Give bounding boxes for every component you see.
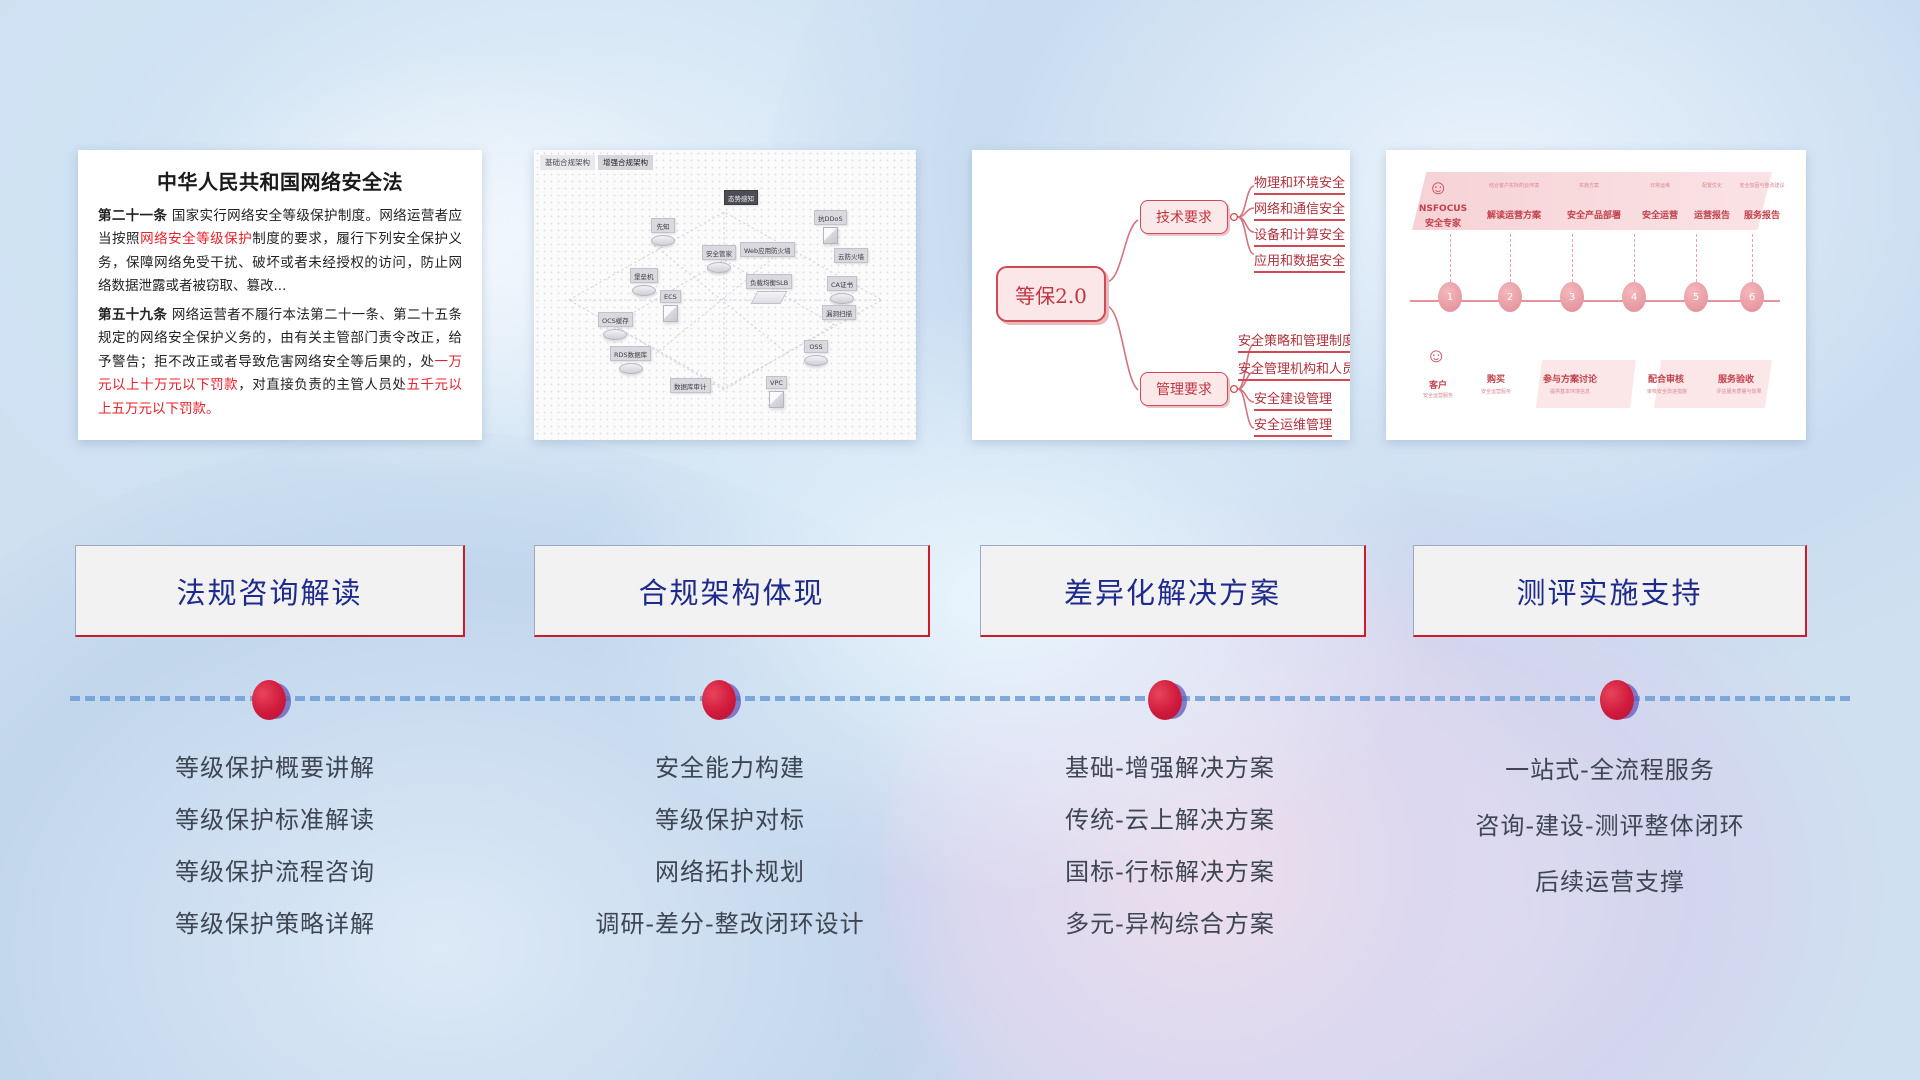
bottom-item-4-label: 服务验收 <box>1708 372 1764 385</box>
law-title: 中华人民共和国网络安全法 <box>98 166 462 195</box>
expert-person-icon: ☺ <box>1428 178 1448 198</box>
flow-step-dot-4: 4 <box>1622 282 1646 312</box>
list-item: 国标-行标解决方案 <box>960 846 1380 898</box>
timeline-dot-1[interactable] <box>252 680 286 720</box>
architecture-tab-enhanced[interactable]: 增强合规架构 <box>598 155 653 170</box>
arch-node-security-butler: 安全管家 <box>702 245 736 273</box>
flow-connector-6 <box>1752 234 1753 282</box>
step-1-sub: 结合客户实际的云环境 <box>1478 182 1550 189</box>
mindmap-leaf-operations: 安全运维管理 <box>1254 414 1332 437</box>
brand-sublabel: 安全专家 <box>1414 216 1472 229</box>
bottom-item-3-sub: 审核安全改进措施 <box>1628 388 1706 395</box>
arch-node-bastion-host: 堡垒机 <box>630 268 658 296</box>
list-item: 多元-异构综合方案 <box>960 898 1380 950</box>
step-5-sub: 安全加固与整改建议 <box>1734 182 1790 189</box>
flow-step-dot-1: 1 <box>1438 282 1462 312</box>
step-2-label: 安全产品部署 <box>1556 208 1632 221</box>
detail-list-column-4: 一站式-全流程服务 咨询-建设-测评整体闭环 后续运营支撑 <box>1400 742 1820 910</box>
arch-node-waf: Web应用防火墙 <box>740 242 795 257</box>
bottom-item-3-label: 配合审核 <box>1638 372 1694 385</box>
flow-step-dot-5: 5 <box>1684 282 1708 312</box>
mindmap-leaf-device-compute: 设备和计算安全 <box>1254 224 1345 247</box>
timeline-dashed-line <box>70 696 1850 701</box>
preview-cards-row: 中华人民共和国网络安全法 第二十一条 国家实行网络安全等级保护制度。网络运营者应… <box>0 150 1920 445</box>
arch-node-ocs-cache: OCS缓存 <box>598 312 633 340</box>
arch-node-db-audit: 数据库审计 <box>670 378 711 393</box>
arch-node-rds: RDS数据库 <box>610 346 651 374</box>
list-item: 一站式-全流程服务 <box>1400 742 1820 798</box>
article-59-label: 第五十九条 <box>98 307 167 323</box>
step-3-sub: 日常运维 <box>1634 182 1686 189</box>
step-4-label: 运营报告 <box>1686 208 1738 221</box>
law-article-21: 第二十一条 国家实行网络安全等级保护制度。网络运营者应当按照网络安全等级保护制度… <box>98 205 462 299</box>
flow-connector-1 <box>1450 234 1451 282</box>
bottom-item-1-sub: 安全运营服务 <box>1466 388 1526 395</box>
architecture-tab-basic[interactable]: 基础合规架构 <box>540 155 595 170</box>
list-item: 传统-云上解决方案 <box>960 794 1380 846</box>
detail-lists-row: 等级保护概要讲解 等级保护标准解读 等级保护流程咨询 等级保护策略详解 安全能力… <box>0 742 1920 982</box>
customer-person-icon: ☺ <box>1426 346 1446 366</box>
headline-box-evaluation-support[interactable]: 测评实施支持 <box>1413 545 1807 637</box>
detail-list-column-1: 等级保护概要讲解 等级保护标准解读 等级保护流程咨询 等级保护策略详解 <box>70 742 480 950</box>
flow-step-dot-2: 2 <box>1498 282 1522 312</box>
architecture-tabs[interactable]: 基础合规架构 增强合规架构 <box>540 155 653 170</box>
mindmap-leaf-policy-system: 安全策略和管理制度 <box>1238 330 1350 353</box>
flow-step-dot-3: 3 <box>1560 282 1584 312</box>
headline-label-1: 法规咨询解读 <box>176 570 362 612</box>
list-item: 后续运营支撑 <box>1400 854 1820 910</box>
headline-boxes-row: 法规咨询解读 合规架构体现 差异化解决方案 测评实施支持 <box>0 545 1920 640</box>
arch-node-foresight: 先知 <box>651 218 675 246</box>
headline-label-2: 合规架构体现 <box>638 570 824 612</box>
bottom-item-1-label: 购买 <box>1472 372 1520 385</box>
headline-box-differentiated-solution[interactable]: 差异化解决方案 <box>980 545 1366 637</box>
timeline-dot-4[interactable] <box>1600 680 1634 720</box>
card-mindmap-djcp[interactable]: 等保2.0 技术要求 管理要求 物理和环境安全 网络和通信安全 设备和计算安全 … <box>972 150 1350 440</box>
list-item: 安全能力构建 <box>520 742 940 794</box>
bottom-item-2-label: 参与方案讨论 <box>1534 372 1606 385</box>
article-59-mid: ，对直接负责的主管人员处 <box>238 377 406 393</box>
arch-node-vpc: VPC <box>766 376 787 408</box>
flow-connector-4 <box>1634 234 1635 282</box>
headline-label-4: 测评实施支持 <box>1516 570 1702 612</box>
mindmap-leaf-app-data: 应用和数据安全 <box>1254 250 1345 273</box>
list-item: 基础-增强解决方案 <box>960 742 1380 794</box>
list-item: 调研-差分-整改闭环设计 <box>520 898 940 950</box>
law-article-59: 第五十九条 网络运营者不履行本法第二十一条、第二十五条规定的网络安全保护义务的，… <box>98 304 462 421</box>
step-3-label: 安全运营 <box>1634 208 1686 221</box>
mindmap-leaf-construction: 安全建设管理 <box>1254 388 1332 411</box>
detail-list-column-3: 基础-增强解决方案 传统-云上解决方案 国标-行标解决方案 多元-异构综合方案 <box>960 742 1380 950</box>
flow-connector-5 <box>1696 234 1697 282</box>
arch-node-situational: 态势感知 <box>724 190 758 205</box>
list-item: 等级保护概要讲解 <box>70 742 480 794</box>
headline-box-compliance-architecture[interactable]: 合规架构体现 <box>534 545 930 637</box>
mindmap-leaf-physical-env: 物理和环境安全 <box>1254 172 1345 195</box>
mindmap-branch-management[interactable]: 管理要求 <box>1140 372 1228 406</box>
step-5-label: 服务报告 <box>1734 208 1790 221</box>
flow-connector-2 <box>1510 234 1511 282</box>
bottom-item-4-sub: 评估服务质量与效果 <box>1700 388 1778 395</box>
card-cybersecurity-law[interactable]: 中华人民共和国网络安全法 第二十一条 国家实行网络安全等级保护制度。网络运营者应… <box>78 150 482 440</box>
timeline <box>0 680 1920 728</box>
mindmap-leaf-org-personnel: 安全管理机构和人员 <box>1238 358 1350 381</box>
detail-list-column-2: 安全能力构建 等级保护对标 网络拓扑规划 调研-差分-整改闭环设计 <box>520 742 940 950</box>
timeline-dot-3[interactable] <box>1148 680 1182 720</box>
arch-node-slb: 负载均衡SLB <box>746 274 792 304</box>
list-item: 等级保护对标 <box>520 794 940 846</box>
bottom-item-2-sub: 提供基本环境信息 <box>1532 388 1608 395</box>
brand-label: NSFOCUS <box>1414 204 1472 214</box>
arch-node-ca-cert: CA证书 <box>827 276 857 304</box>
headline-box-regulation-consulting[interactable]: 法规咨询解读 <box>75 545 465 637</box>
list-item: 网络拓扑规划 <box>520 846 940 898</box>
arch-node-cloud-firewall: 云防火墙 <box>834 248 868 263</box>
flow-timeline-axis <box>1410 300 1780 302</box>
step-2-sub: 实施方案 <box>1556 182 1622 189</box>
list-item: 咨询-建设-测评整体闭环 <box>1400 798 1820 854</box>
headline-label-3: 差异化解决方案 <box>1064 570 1281 612</box>
list-item: 等级保护标准解读 <box>70 794 480 846</box>
mindmap-branch-technical[interactable]: 技术要求 <box>1140 200 1228 234</box>
arch-node-ecs: ECS <box>660 290 681 322</box>
flow-connector-3 <box>1572 234 1573 282</box>
arch-node-oss: OSS <box>804 340 828 366</box>
article-21-label: 第二十一条 <box>98 208 167 224</box>
list-item: 等级保护策略详解 <box>70 898 480 950</box>
step-4-sub: 配置优化 <box>1686 182 1738 189</box>
card-service-flow[interactable]: ☺ NSFOCUS 安全专家 结合客户实际的云环境 解读运营方案 实施方案 安全… <box>1386 150 1806 440</box>
flow-step-dot-6: 6 <box>1740 282 1764 312</box>
list-item: 等级保护流程咨询 <box>70 846 480 898</box>
timeline-dot-2[interactable] <box>702 680 736 720</box>
step-1-label: 解读运营方案 <box>1478 208 1550 221</box>
article-21-highlight: 网络安全等级保护 <box>140 231 252 247</box>
arch-node-vuln-scan: 漏洞扫描 <box>822 305 856 320</box>
mindmap-center-node[interactable]: 等保2.0 <box>996 266 1106 322</box>
card-compliance-architecture[interactable]: 基础合规架构 增强合规架构 态势感知 <box>534 150 916 440</box>
customer-label: 客户 <box>1414 378 1462 391</box>
mindmap-leaf-network-comm: 网络和通信安全 <box>1254 198 1345 221</box>
customer-sub: 安全运营服务 <box>1410 392 1466 399</box>
arch-node-anti-ddos: 抗DDoS <box>814 210 847 244</box>
